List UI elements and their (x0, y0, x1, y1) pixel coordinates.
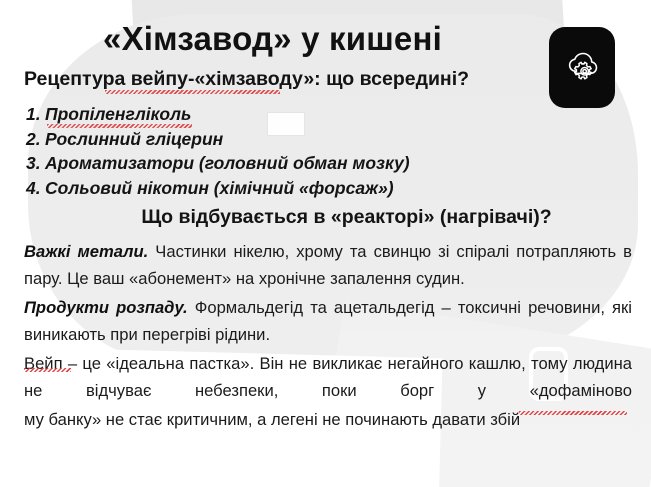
paragraph-perfect-trap: Вейп – це «ідеальна пастка». Він не викл… (24, 350, 632, 404)
list-item-label: Пропіленгліколь (45, 104, 191, 124)
list-item: 2.Рослинний гліцерин (26, 127, 586, 152)
spellcheck-underline-dofaminovo (519, 411, 627, 415)
list-item-number: 4. (26, 176, 45, 201)
recipe-subheading: Рецептура вейпу-«хімзаводу»: що всередин… (24, 68, 469, 91)
spellcheck-underline-veip (24, 368, 71, 372)
list-item-label: Ароматизатори (головний обман мозку) (45, 153, 410, 173)
list-item: 4.Сольовий нікотин (хімічний «форсаж») (26, 176, 586, 201)
spellcheck-underline-ingredient (47, 124, 192, 128)
page-title: «Хімзавод» у кишені (0, 20, 545, 58)
paragraph-decay-products: Продукти розпаду. Формальдегід та ацетал… (24, 294, 632, 348)
list-item-number: 1. (26, 102, 45, 127)
list-item-label: Рослинний гліцерин (45, 129, 223, 149)
section-heading: Що відбувається в «реакторі» (нагрівачі)… (0, 206, 651, 229)
slide-canvas: «Хімзавод» у кишені Рецептура вейпу-«хім… (0, 0, 651, 487)
list-item-number: 2. (26, 127, 45, 152)
paragraph-lead: Продукти розпаду. (24, 298, 188, 317)
body-text: Важкі метали. Частинки нікелю, хрому та … (24, 238, 632, 433)
paragraph-heavy-metals: Важкі метали. Частинки нікелю, хрому та … (24, 238, 632, 292)
paragraph-text: Вейп – це «ідеальна пастка». Він не викл… (24, 354, 632, 400)
list-item: 3.Ароматизатори (головний обман мозку) (26, 151, 586, 176)
ingredients-list: 1.Пропіленгліколь 2.Рослинний гліцерин 3… (26, 102, 586, 200)
list-item: 1.Пропіленгліколь (26, 102, 586, 127)
list-item-label: Сольовий нікотин (хімічний «форсаж») (45, 178, 394, 198)
slide-content: «Хімзавод» у кишені Рецептура вейпу-«хім… (0, 0, 651, 487)
paragraph-lead: Важкі метали. (24, 242, 148, 261)
spellcheck-underline-subheading (105, 90, 280, 94)
paragraph-text: му банку» не стає критичним, а легені не… (24, 410, 520, 429)
list-item-number: 3. (26, 151, 45, 176)
